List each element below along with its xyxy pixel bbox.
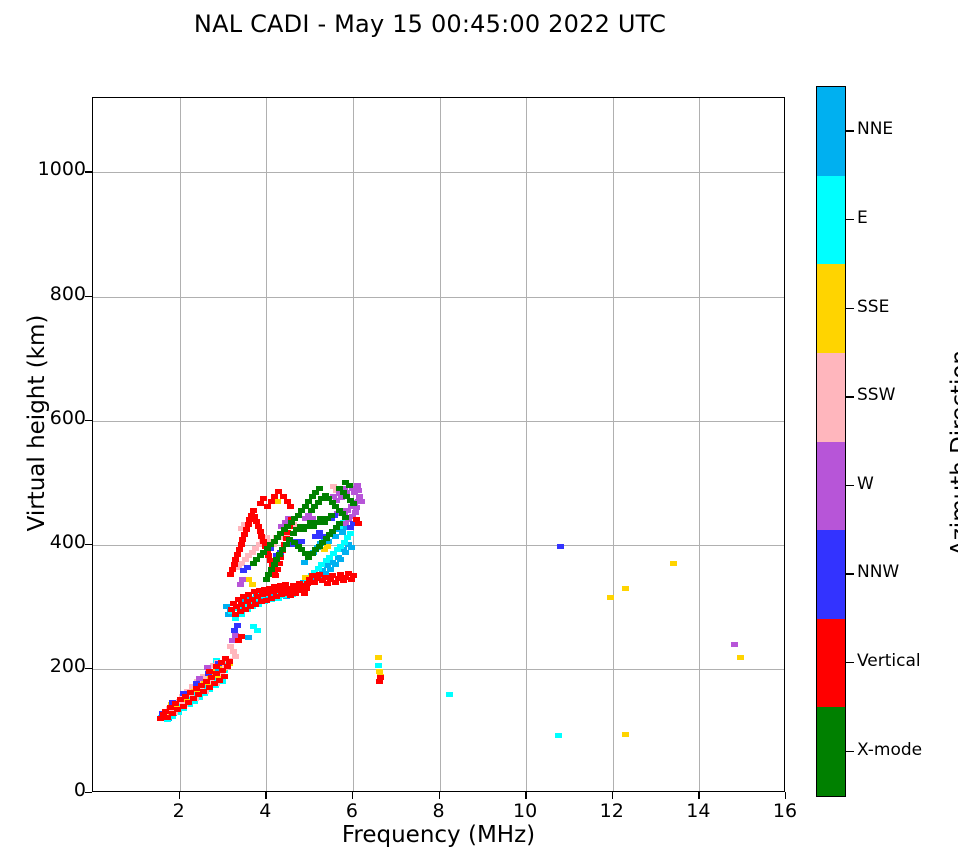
data-point-nne xyxy=(337,557,344,562)
x-tick-mark xyxy=(525,792,526,799)
colorbar-label-ssw: SSW xyxy=(857,385,895,405)
data-point-x-mode xyxy=(342,515,349,520)
x-tick-label: 2 xyxy=(149,800,209,822)
data-point-x-mode xyxy=(328,513,335,518)
data-point-vertical xyxy=(213,664,220,669)
colorbar-tick xyxy=(846,751,854,752)
gridline-horizontal xyxy=(93,172,784,173)
data-point-x-mode xyxy=(250,561,257,566)
data-point-sse xyxy=(737,655,744,660)
data-point-e xyxy=(375,663,382,668)
colorbar-segment-ssw[interactable] xyxy=(817,353,845,442)
data-point-e xyxy=(341,540,348,545)
gridline-vertical xyxy=(266,98,267,791)
data-point-vertical xyxy=(274,567,281,572)
colorbar-label-nnw: NNW xyxy=(857,562,899,582)
y-axis-label: Virtual height (km) xyxy=(24,263,50,583)
data-point-vertical xyxy=(227,572,234,577)
colorbar[interactable] xyxy=(816,86,846,797)
y-tick-mark xyxy=(85,792,92,793)
data-point-vertical xyxy=(238,634,245,639)
colorbar-label-x-mode: X-mode xyxy=(857,740,922,760)
data-point-sse xyxy=(274,499,281,504)
data-point-nne xyxy=(327,567,334,572)
data-point-vertical xyxy=(377,675,384,680)
colorbar-segment-sse[interactable] xyxy=(817,264,845,353)
data-point-sse xyxy=(622,732,629,737)
data-point-vertical xyxy=(287,504,294,509)
data-point-vertical xyxy=(234,552,241,557)
x-tick-label: 6 xyxy=(322,800,382,822)
y-tick-label: 200 xyxy=(0,655,86,677)
ionogram-figure: NAL CADI - May 15 00:45:00 2022 UTC 2468… xyxy=(0,0,958,857)
data-point-sse xyxy=(375,655,382,660)
data-point-vertical xyxy=(271,494,278,499)
gridline-vertical xyxy=(353,98,354,791)
x-tick-mark xyxy=(179,792,180,799)
x-tick-label: 4 xyxy=(235,800,295,822)
gridline-horizontal xyxy=(93,669,784,670)
data-point-vertical xyxy=(303,586,310,591)
colorbar-tick xyxy=(846,485,854,486)
colorbar-segment-nnw[interactable] xyxy=(817,530,845,619)
data-point-vertical xyxy=(231,562,238,567)
x-tick-mark xyxy=(785,792,786,799)
x-tick-label: 12 xyxy=(582,800,642,822)
plot-area[interactable] xyxy=(92,97,785,792)
data-point-nne xyxy=(245,635,252,640)
data-point-vertical xyxy=(268,499,275,504)
gridline-vertical xyxy=(613,98,614,791)
data-point-w xyxy=(731,642,738,647)
data-point-sse xyxy=(249,582,256,587)
data-point-x-mode xyxy=(263,577,270,582)
y-tick-mark xyxy=(85,420,92,421)
x-tick-mark xyxy=(265,792,266,799)
data-point-w xyxy=(358,499,365,504)
gridline-vertical xyxy=(440,98,441,791)
data-point-vertical xyxy=(238,542,245,547)
data-point-e xyxy=(555,733,562,738)
data-point-vertical xyxy=(260,496,267,501)
data-point-w xyxy=(239,577,246,582)
data-point-sse xyxy=(670,561,677,566)
y-tick-mark xyxy=(85,296,92,297)
data-point-w xyxy=(355,488,362,493)
y-tick-mark xyxy=(85,668,92,669)
colorbar-label-vertical: Vertical xyxy=(857,651,921,671)
data-point-ssw xyxy=(232,654,239,659)
data-point-vertical xyxy=(206,669,213,674)
data-point-vertical xyxy=(239,537,246,542)
data-point-vertical xyxy=(301,591,308,596)
data-point-x-mode xyxy=(336,521,343,526)
colorbar-title: Azimuth Direction xyxy=(947,293,958,613)
data-point-nne xyxy=(348,545,355,550)
data-point-nne xyxy=(342,550,349,555)
data-point-vertical xyxy=(229,567,236,572)
x-tick-label: 10 xyxy=(495,800,555,822)
data-point-w xyxy=(237,582,244,587)
x-tick-label: 14 xyxy=(668,800,728,822)
page-title: NAL CADI - May 15 00:45:00 2022 UTC xyxy=(0,10,860,38)
gridline-horizontal xyxy=(93,545,784,546)
x-tick-mark xyxy=(612,792,613,799)
data-point-vertical xyxy=(250,508,257,513)
colorbar-label-w: W xyxy=(857,474,874,494)
x-tick-mark xyxy=(439,792,440,799)
data-point-sse xyxy=(607,595,614,600)
data-point-nnw xyxy=(557,544,564,549)
colorbar-segment-nne[interactable] xyxy=(817,87,845,176)
data-point-vertical xyxy=(355,521,362,526)
gridline-horizontal xyxy=(93,421,784,422)
colorbar-tick xyxy=(846,308,854,309)
colorbar-segment-x-mode[interactable] xyxy=(817,707,845,796)
data-point-nne xyxy=(301,560,308,565)
colorbar-tick xyxy=(846,662,854,663)
x-tick-mark xyxy=(352,792,353,799)
x-tick-mark xyxy=(698,792,699,799)
data-point-nnw xyxy=(231,628,238,633)
colorbar-tick xyxy=(846,396,854,397)
colorbar-tick xyxy=(846,219,854,220)
y-tick-label: 1000 xyxy=(0,158,86,180)
colorbar-segment-e[interactable] xyxy=(817,176,845,265)
data-point-x-mode xyxy=(350,501,357,506)
data-point-x-mode xyxy=(316,486,323,491)
y-tick-mark xyxy=(85,544,92,545)
data-point-x-mode xyxy=(342,480,349,485)
colorbar-tick xyxy=(846,130,854,131)
data-point-vertical xyxy=(224,664,231,669)
colorbar-tick xyxy=(846,573,854,574)
data-point-vertical xyxy=(243,527,250,532)
colorbar-label-nne: NNE xyxy=(857,119,893,139)
colorbar-segment-w[interactable] xyxy=(817,442,845,531)
data-point-vertical xyxy=(221,674,228,679)
y-tick-label: 0 xyxy=(0,779,86,801)
colorbar-label-e: E xyxy=(857,208,868,228)
gridline-vertical xyxy=(699,98,700,791)
data-point-e xyxy=(446,692,453,697)
y-tick-mark xyxy=(85,171,92,172)
gridline-vertical xyxy=(526,98,527,791)
data-point-vertical xyxy=(241,532,248,537)
data-point-nnw xyxy=(234,623,241,628)
data-point-vertical xyxy=(236,547,243,552)
data-point-vertical xyxy=(272,573,279,578)
data-point-nne xyxy=(332,562,339,567)
x-axis-label: Frequency (MHz) xyxy=(92,822,785,848)
data-point-e xyxy=(254,628,261,633)
gridline-vertical xyxy=(180,98,181,791)
gridline-horizontal xyxy=(93,297,784,298)
x-tick-label: 8 xyxy=(409,800,469,822)
x-tick-label: 16 xyxy=(755,800,815,822)
data-point-vertical xyxy=(232,557,239,562)
data-point-e xyxy=(347,531,354,536)
colorbar-segment-vertical[interactable] xyxy=(817,619,845,708)
data-point-vertical xyxy=(264,504,271,509)
colorbar-label-sse: SSE xyxy=(857,297,889,317)
data-point-vertical xyxy=(257,501,264,506)
data-point-sse xyxy=(622,586,629,591)
data-point-vertical xyxy=(245,522,252,527)
data-point-vertical xyxy=(350,573,357,578)
